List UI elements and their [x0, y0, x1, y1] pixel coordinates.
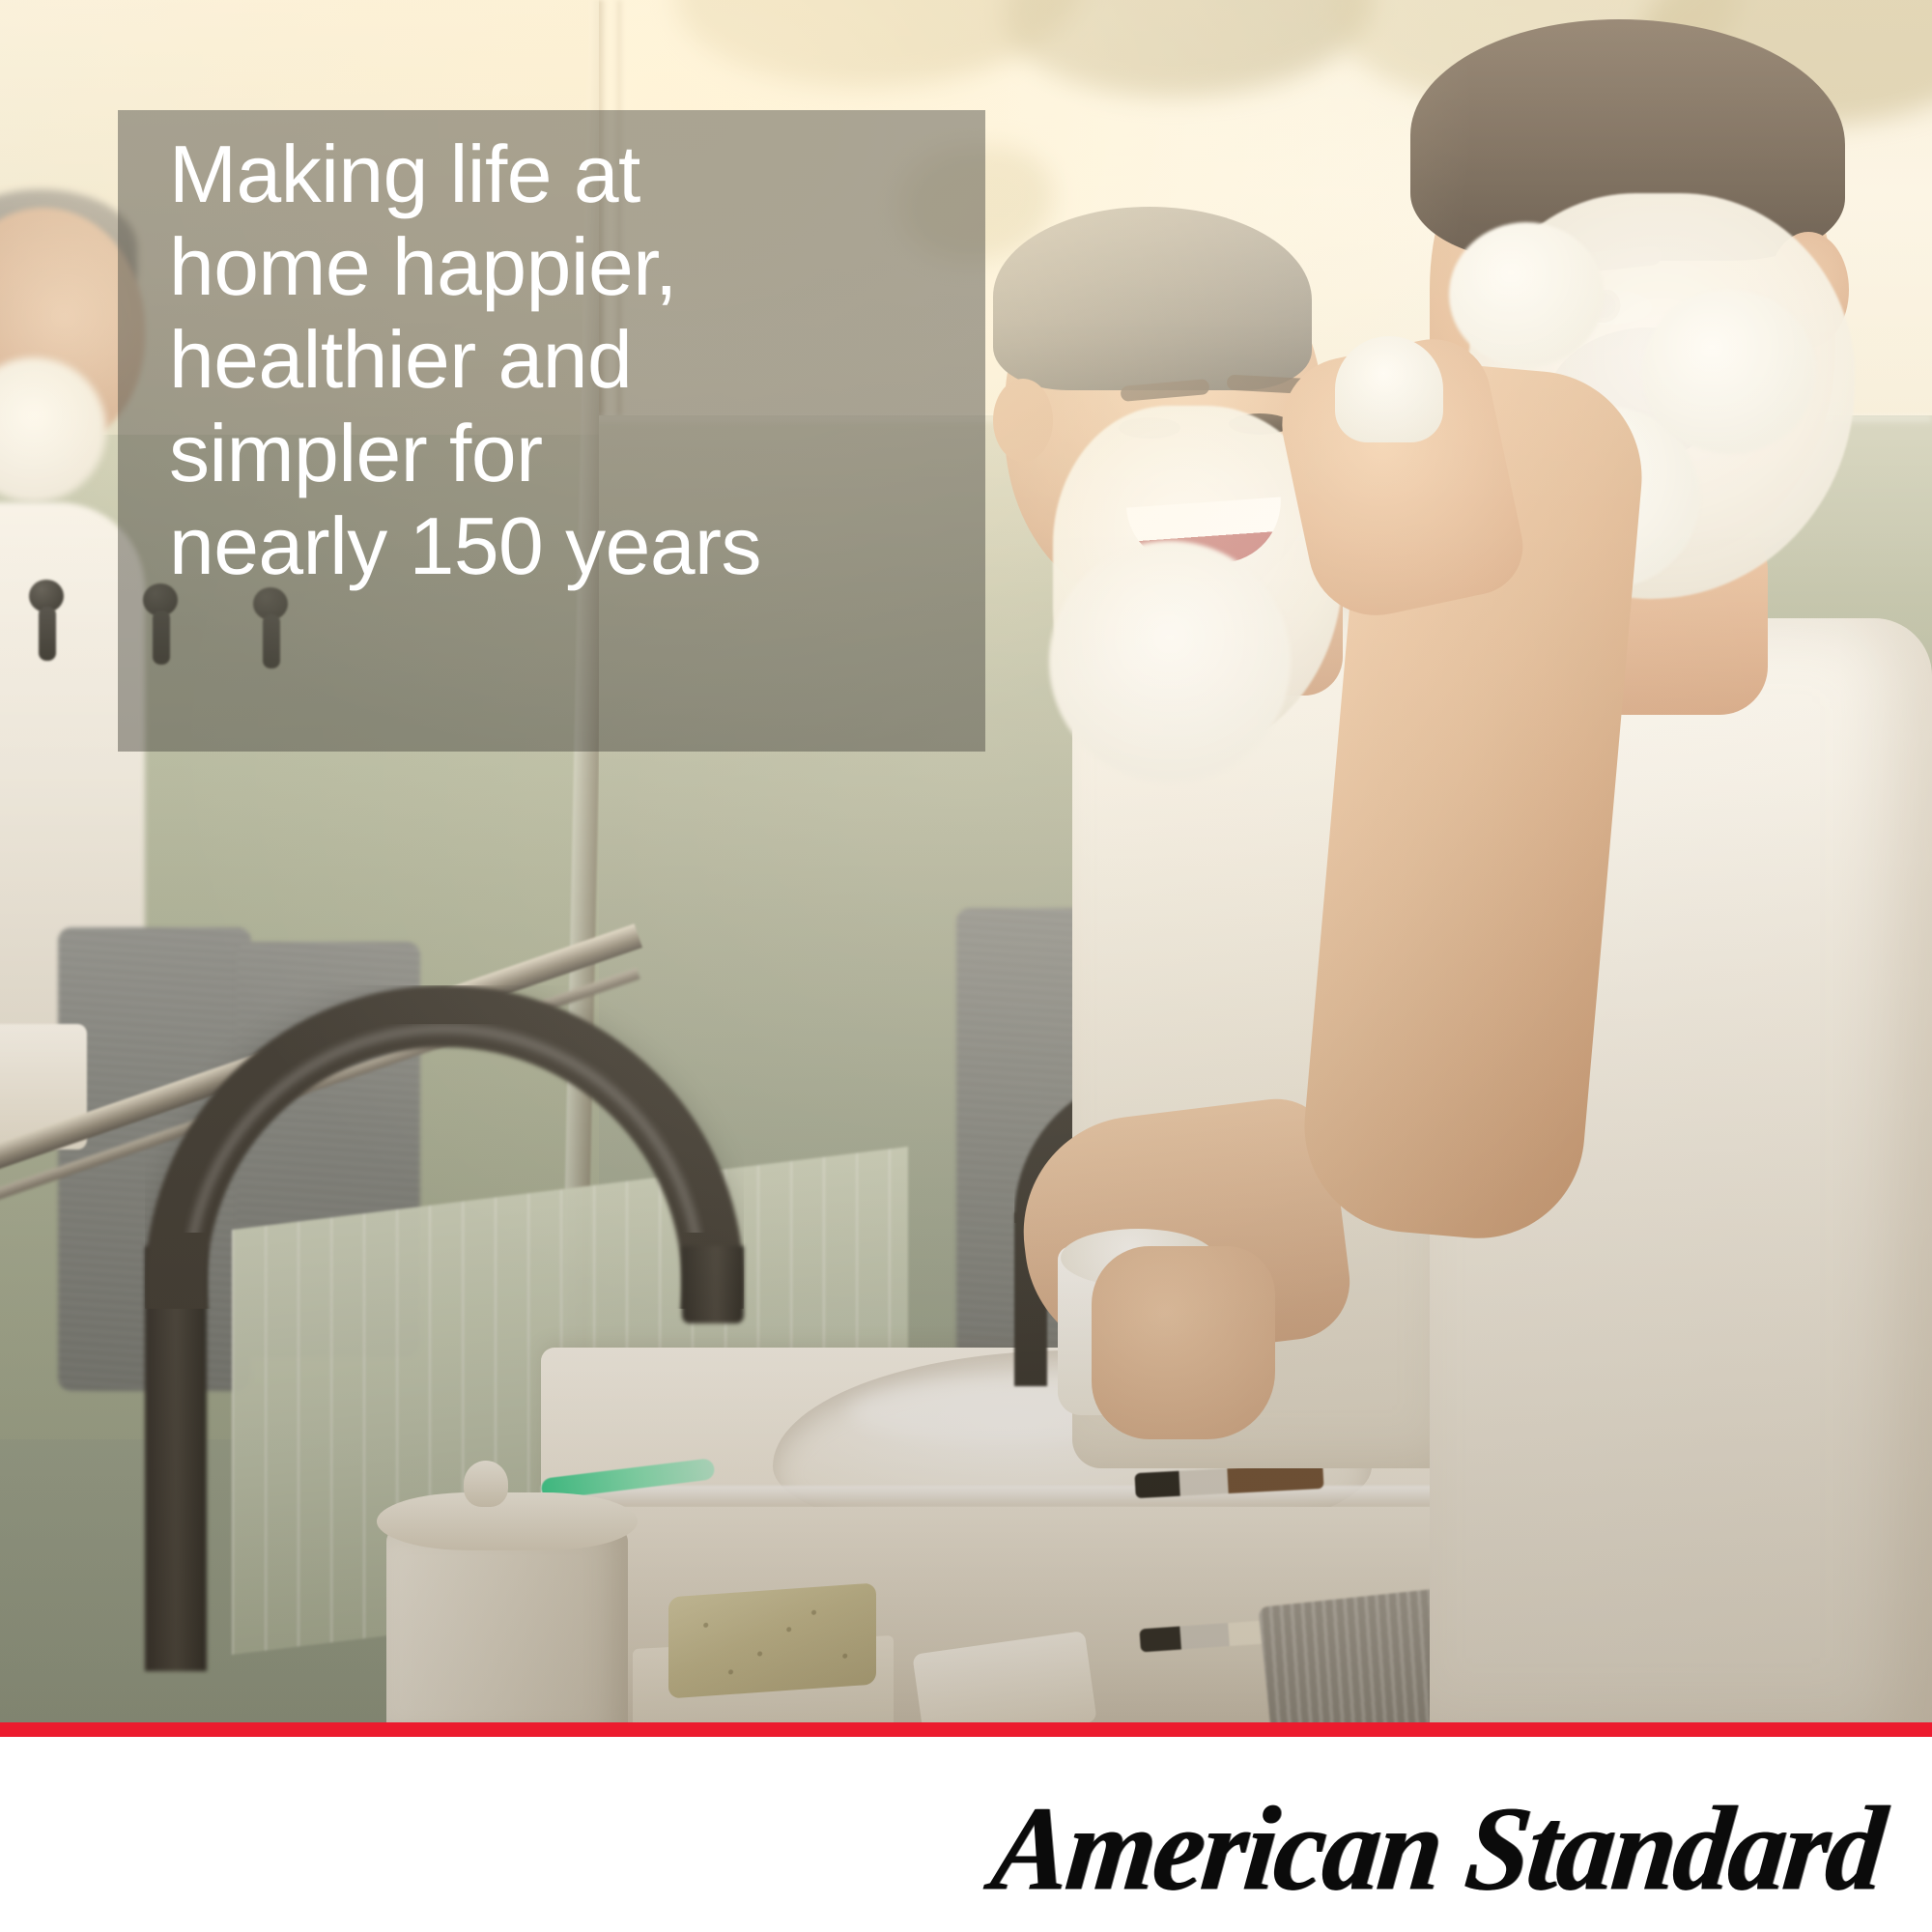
father-shaving-foam	[1049, 541, 1291, 782]
headline-line-4: simpler for	[169, 407, 942, 499]
canister-lid	[377, 1492, 638, 1550]
canister-knob	[464, 1461, 508, 1507]
headline-line-3: healthier and	[169, 313, 942, 406]
foreground-faucet-spout	[682, 1246, 744, 1323]
father-ear	[993, 379, 1053, 462]
wall-hook-icon	[39, 607, 56, 661]
headline-line-2: home happier,	[169, 220, 942, 313]
soap-bar	[668, 1582, 876, 1698]
hero-photo: Making life at home happier, healthier a…	[0, 0, 1932, 1722]
ceramic-canister	[386, 1526, 628, 1722]
headline-line-5: nearly 150 years	[169, 499, 942, 592]
father-hand	[1092, 1246, 1275, 1439]
shaving-brush-head	[1335, 336, 1443, 442]
american-standard-logo[interactable]: American Standard	[985, 1779, 1889, 1918]
foreground-faucet-riser	[145, 1246, 207, 1671]
advertisement-creative: Making life at home happier, healthier a…	[0, 0, 1932, 1932]
headline-text: Making life at home happier, healthier a…	[169, 128, 942, 592]
brand-red-rule	[0, 1722, 1932, 1737]
boy-shaving-foam	[1642, 290, 1816, 454]
boy-shaving-foam	[1449, 222, 1604, 367]
father-hair	[993, 207, 1312, 390]
headline-line-1: Making life at	[169, 128, 942, 220]
